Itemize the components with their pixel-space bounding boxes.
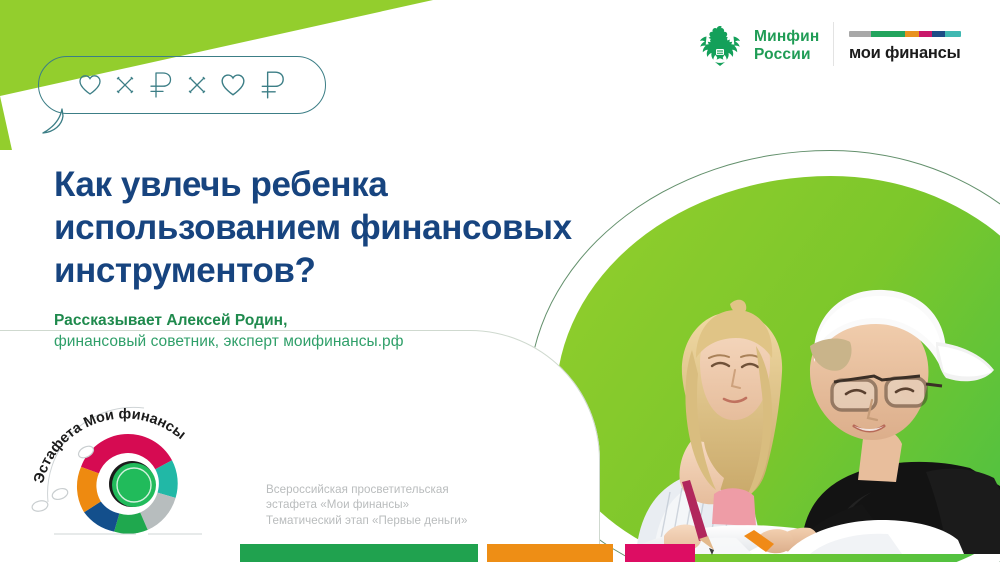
moifinansy-wordmark: мои финансы [849, 44, 967, 63]
ruble-icon [259, 70, 287, 100]
footer-caption-line2: эстафета «Мои финансы» [266, 497, 556, 512]
page-title: Как увлечь ребенка использованием финанс… [54, 163, 654, 292]
footer-caption: Всероссийская просветительская эстафета … [266, 482, 556, 528]
moifinansy-bar-segment-green [871, 31, 905, 37]
moifinansy-bar-segment-teal [945, 31, 961, 37]
moifinansy-bar-segment-navy [932, 31, 945, 37]
speaker-byline: Рассказывает Алексей Родин, финансовый с… [54, 311, 614, 352]
moifinansy-bar-segment-gray [849, 31, 871, 37]
multiply-icon [115, 75, 135, 95]
footer-caption-line1: Всероссийская просветительская [266, 482, 556, 497]
students-photo [596, 254, 1000, 562]
minfin-logo-text: Минфин России [754, 28, 819, 65]
heart-icon [78, 74, 102, 96]
moifinansy-color-bar [849, 31, 961, 37]
multiply-icon [187, 75, 207, 95]
header-logo-divider [833, 22, 834, 66]
falling-coins-icon [31, 487, 69, 513]
estafeta-logo: Эстафета Мои финансы [24, 392, 224, 542]
bottom-color-bar [0, 544, 1000, 562]
minfin-logo-line2: России [754, 46, 819, 65]
speech-bubble-icons [38, 56, 326, 114]
speaker-name: Рассказывает Алексей Родин, [54, 311, 614, 331]
minfin-logo-line1: Минфин [754, 28, 819, 47]
bottom-bar-magenta-segment [625, 544, 695, 562]
bottom-bar-orange-segment [487, 544, 613, 562]
moifinansy-logo: мои финансы [849, 31, 967, 63]
moifinansy-bar-segment-magenta [919, 31, 932, 37]
footer-caption-line3: Тематический этап «Первые деньги» [266, 513, 556, 528]
ruble-icon [148, 71, 174, 99]
double-headed-eagle-emblem-icon [697, 22, 743, 70]
minfin-logo: Минфин России [697, 22, 819, 70]
presentation-slide: Минфин России мои финансы Как увлечь реб… [0, 0, 1000, 562]
moifinansy-bar-segment-orange [905, 31, 919, 37]
heart-icon [220, 73, 246, 97]
speaker-role: финансовый советник, эксперт моифинансы.… [54, 331, 614, 352]
bottom-bar-green-segment [240, 544, 478, 562]
